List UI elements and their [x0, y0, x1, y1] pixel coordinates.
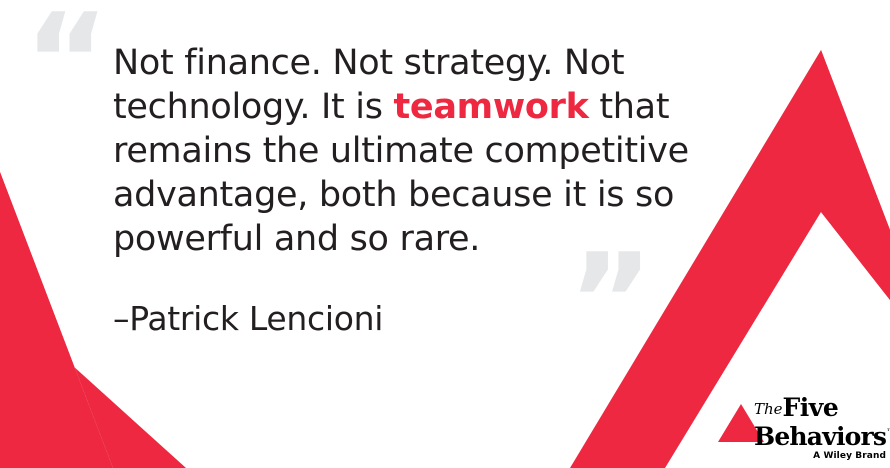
logo-line-behaviors: Behaviors™: [754, 421, 886, 449]
highlighted-word-teamwork: teamwork: [393, 87, 588, 127]
quote-line-4: advantage, both because it is so: [113, 173, 683, 217]
logo-wordmark: TheFive Behaviors™ A Wiley Brand: [754, 396, 886, 461]
opening-quote-icon: “: [24, 0, 107, 126]
quote-line-1-text: Not finance. Not strategy. Not: [113, 43, 624, 83]
logo-text-behaviors: Behaviors: [754, 422, 886, 451]
logo-line-the-five: TheFive: [754, 396, 886, 423]
quote-line-5-text: powerful and so rare.: [113, 219, 480, 259]
logo-text-the: The: [754, 400, 783, 418]
logo-text-five: Five: [783, 393, 839, 422]
quote-line-5: powerful and so rare.: [113, 217, 683, 261]
quote-line-2-text-after: that: [589, 87, 670, 127]
logo-tagline: A Wiley Brand: [754, 451, 886, 461]
quote-text: Not finance. Not strategy. Not technolog…: [113, 41, 683, 261]
quote-line-3: remains the ultimate competitive: [113, 129, 683, 173]
quote-line-4-text: advantage, both because it is so: [113, 175, 674, 215]
quote-card: “ ” Not finance. Not strategy. Not techn…: [0, 0, 890, 468]
quote-line-3-text: remains the ultimate competitive: [113, 131, 689, 171]
five-behaviors-logo: TheFive Behaviors™ A Wiley Brand: [718, 396, 886, 454]
trademark-icon: ™: [886, 428, 890, 438]
quote-line-2-text-before: technology. It is: [113, 87, 393, 127]
quote-line-1: Not finance. Not strategy. Not: [113, 41, 683, 85]
red-chevron-right-wing: [821, 50, 890, 300]
red-diagonal-band-fill: [0, 172, 113, 468]
quote-attribution: –Patrick Lencioni: [113, 298, 383, 340]
quote-line-2: technology. It is teamwork that: [113, 85, 683, 129]
